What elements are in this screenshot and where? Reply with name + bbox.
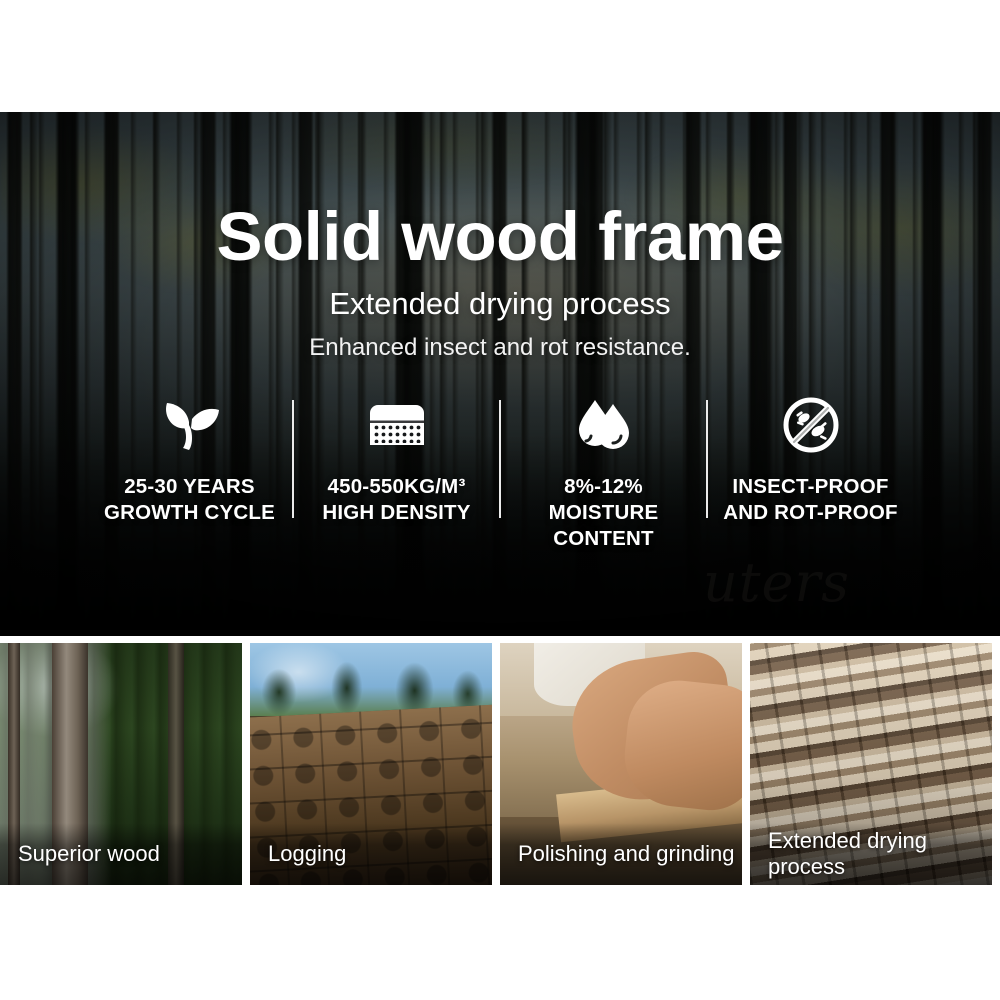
hero-headline: Solid wood frame bbox=[0, 202, 1000, 271]
hero-subheadline: Extended drying process bbox=[0, 288, 1000, 319]
gallery-tile-polishing-grinding[interactable]: Polishing and grinding bbox=[500, 643, 742, 885]
leaf-sprout-icon bbox=[159, 394, 221, 456]
feature-item-insect-rot-proof: INSECT-PROOF AND ROT-PROOF bbox=[707, 394, 914, 526]
density-block-icon bbox=[366, 394, 428, 456]
gallery-tile-extended-drying-process[interactable]: Extended drying process bbox=[750, 643, 992, 885]
feature-item-growth-cycle: 25-30 YEARS GROWTH CYCLE bbox=[86, 394, 293, 526]
feature-item-high-density: 450-550KG/M³ HIGH DENSITY bbox=[293, 394, 500, 526]
gallery-tile-caption: Polishing and grinding bbox=[500, 823, 742, 885]
feature-line2: GROWTH CYCLE bbox=[104, 500, 275, 526]
feature-line2: HIGH DENSITY bbox=[322, 500, 470, 526]
product-feature-banner: uters Solid wood frame Extended drying p… bbox=[0, 0, 1000, 1000]
hero-banner: uters Solid wood frame Extended drying p… bbox=[0, 112, 1000, 636]
feature-line1: INSECT-PROOF bbox=[732, 475, 888, 498]
feature-label-growth-cycle: 25-30 YEARS GROWTH CYCLE bbox=[104, 474, 275, 526]
gallery-tile-caption: Superior wood bbox=[0, 823, 242, 885]
feature-line1: 8%-12% bbox=[564, 475, 643, 498]
gallery-tile-caption: Logging bbox=[250, 823, 492, 885]
gallery-tile-superior-wood[interactable]: Superior wood bbox=[0, 643, 242, 885]
no-insect-icon bbox=[780, 394, 842, 456]
feature-line2: MOISTURE CONTENT bbox=[500, 500, 707, 552]
gallery-tile-caption: Extended drying process bbox=[750, 823, 992, 885]
feature-item-moisture-content: 8%-12% MOISTURE CONTENT bbox=[500, 394, 707, 551]
feature-line2: AND ROT-PROOF bbox=[723, 500, 898, 526]
water-droplets-icon bbox=[573, 394, 635, 456]
process-gallery: Superior wood Logging Polishing and grin… bbox=[0, 643, 1000, 885]
gallery-tile-logging[interactable]: Logging bbox=[250, 643, 492, 885]
feature-label-moisture-content: 8%-12% MOISTURE CONTENT bbox=[500, 474, 707, 551]
feature-label-high-density: 450-550KG/M³ HIGH DENSITY bbox=[322, 474, 470, 526]
feature-label-insect-rot-proof: INSECT-PROOF AND ROT-PROOF bbox=[723, 474, 898, 526]
feature-line1: 450-550KG/M³ bbox=[328, 475, 466, 498]
feature-line1: 25-30 YEARS bbox=[124, 475, 255, 498]
hero-tagline: Enhanced insect and rot resistance. bbox=[0, 336, 1000, 360]
feature-list: 25-30 YEARS GROWTH CYCLE bbox=[0, 394, 1000, 534]
hero-content: Solid wood frame Extended drying process… bbox=[0, 112, 1000, 636]
